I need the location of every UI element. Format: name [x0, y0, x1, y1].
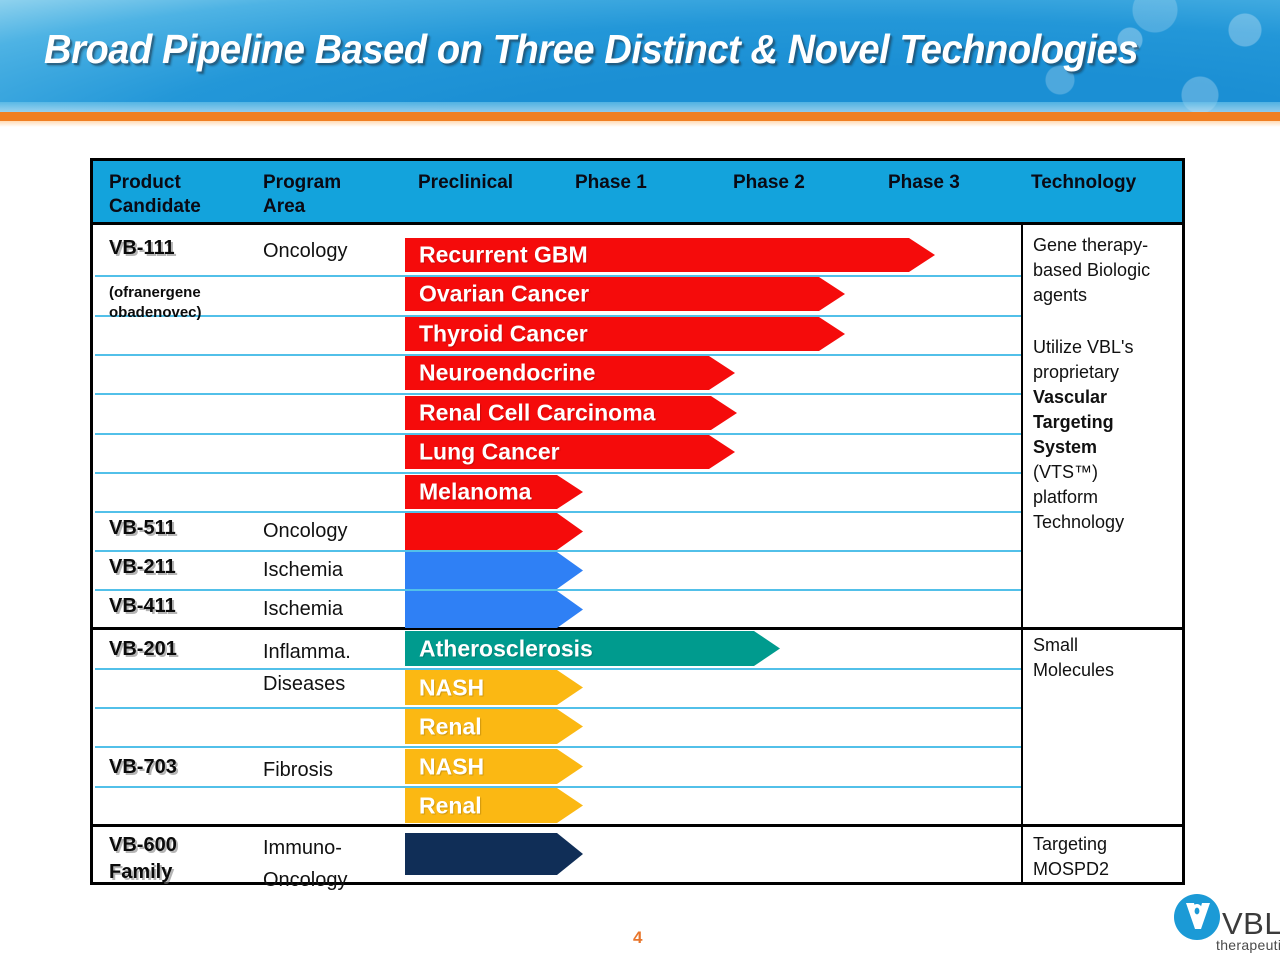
candidate-vb-600-family: VB-600 Family [109, 832, 177, 886]
column-header-technology: Technology [1031, 171, 1136, 195]
vbl-logo-mark [1172, 892, 1222, 942]
table-body: VB-111 (ofranergene obadenovec) Oncology… [93, 225, 1182, 885]
pipeline-table: Product Candidate Program Area Preclinic… [90, 158, 1185, 885]
row-divider [95, 786, 1023, 788]
column-header-phase-2: Phase 2 [733, 171, 805, 195]
program-bar-renal-cell-carcinoma: Renal Cell Carcinoma [405, 396, 737, 430]
row-divider [95, 275, 1023, 277]
program-bar-nash: NASH [405, 749, 583, 784]
program-area-vb-703: Fibrosis [263, 754, 333, 786]
orange-accent-glow [0, 121, 1280, 127]
row-divider [95, 589, 1023, 591]
program-bar-nash: NASH [405, 670, 583, 705]
row-divider [95, 511, 1023, 513]
program-bar-unlabeled-15 [405, 833, 583, 875]
technology-mospd2: Targeting MOSPD2 [1033, 832, 1109, 882]
program-bar-thyroid-cancer: Thyroid Cancer [405, 317, 845, 351]
program-area-vb-511: Oncology [263, 515, 348, 547]
program-area-vb-111: Oncology [263, 235, 348, 267]
program-bar-label: Atherosclerosis [419, 635, 593, 662]
program-bar-label: NASH [419, 674, 484, 701]
vbl-logo-tagline: therapeutics [1216, 937, 1280, 953]
row-divider [95, 354, 1023, 356]
program-bar-melanoma: Melanoma [405, 475, 583, 509]
program-bar-label: NASH [419, 753, 484, 780]
program-area-vb-201: Inflamma. Diseases [263, 636, 351, 700]
page-number: 4 [633, 928, 642, 948]
vbl-logo: VBL therapeutics [1172, 892, 1276, 954]
vts-text-pre: Utilize VBL's proprietary [1033, 337, 1133, 382]
candidate-vb-511: VB-511 [109, 515, 176, 542]
row-divider [95, 472, 1023, 474]
program-bar-renal: Renal [405, 709, 583, 744]
row-divider [95, 315, 1023, 317]
program-bar-unlabeled-9 [405, 591, 583, 628]
program-bar-label: Recurrent GBM [419, 242, 588, 269]
technology-vts-platform: Utilize VBL's proprietary Vascular Targe… [1033, 335, 1133, 535]
row-divider [95, 433, 1023, 435]
section-separator [93, 824, 1182, 827]
program-bar-ovarian-cancer: Ovarian Cancer [405, 277, 845, 311]
program-bar-neuroendocrine: Neuroendocrine [405, 356, 735, 390]
table-header-row: Product Candidate Program Area Preclinic… [93, 161, 1182, 225]
candidate-vb-111: VB-111 [109, 235, 175, 262]
technology-small-molecules: Small Molecules [1033, 633, 1114, 683]
program-bar-recurrent-gbm: Recurrent GBM [405, 238, 935, 272]
candidate-vb-211: VB-211 [109, 554, 176, 581]
column-header-program-area: Program Area [263, 171, 341, 219]
orange-accent-rule [0, 112, 1280, 121]
row-divider [95, 707, 1023, 709]
candidate-vb-703: VB-703 [109, 754, 177, 781]
technology-column-rule [1021, 824, 1023, 885]
row-divider [95, 746, 1023, 748]
row-divider [95, 668, 1023, 670]
program-area-vb-211: Ischemia [263, 554, 343, 586]
program-bar-label: Ovarian Cancer [419, 281, 589, 308]
column-header-phase-1: Phase 1 [575, 171, 647, 195]
program-area-vb-411: Ischemia [263, 593, 343, 625]
row-divider [95, 393, 1023, 395]
program-bar-atherosclerosis: Atherosclerosis [405, 631, 780, 666]
program-bar-label: Melanoma [419, 479, 531, 506]
technology-column-rule [1021, 225, 1023, 627]
column-header-phase-3: Phase 3 [888, 171, 960, 195]
vts-text-post: (VTS™) platform Technology [1033, 462, 1124, 532]
program-bar-unlabeled-7 [405, 513, 583, 550]
candidate-vb-201: VB-201 [109, 636, 177, 663]
section-separator [93, 627, 1182, 630]
program-bar-label: Renal [419, 792, 482, 819]
technology-gene-therapy: Gene therapy- based Biologic agents [1033, 233, 1150, 308]
row-divider [95, 550, 1023, 552]
program-bar-label: Neuroendocrine [419, 360, 595, 387]
candidate-vb-111-generic-name: (ofranergene obadenovec) [109, 283, 202, 323]
program-bar-label: Renal Cell Carcinoma [419, 400, 655, 427]
candidate-vb-411: VB-411 [109, 593, 176, 620]
vts-text-bold: Vascular Targeting System [1033, 387, 1114, 457]
program-bar-unlabeled-8 [405, 552, 583, 589]
program-bar-label: Lung Cancer [419, 439, 560, 466]
technology-column-rule [1021, 627, 1023, 824]
program-area-vb-600: Immuno- Oncology [263, 832, 348, 896]
program-bar-renal: Renal [405, 788, 583, 823]
slide-header-banner: Broad Pipeline Based on Three Distinct &… [0, 0, 1280, 112]
program-bar-lung-cancer: Lung Cancer [405, 435, 735, 469]
program-bar-label: Thyroid Cancer [419, 321, 588, 348]
column-header-product-candidate: Product Candidate [109, 171, 201, 219]
program-bar-label: Renal [419, 713, 482, 740]
column-header-preclinical: Preclinical [418, 171, 513, 195]
page-title: Broad Pipeline Based on Three Distinct &… [44, 26, 1138, 73]
